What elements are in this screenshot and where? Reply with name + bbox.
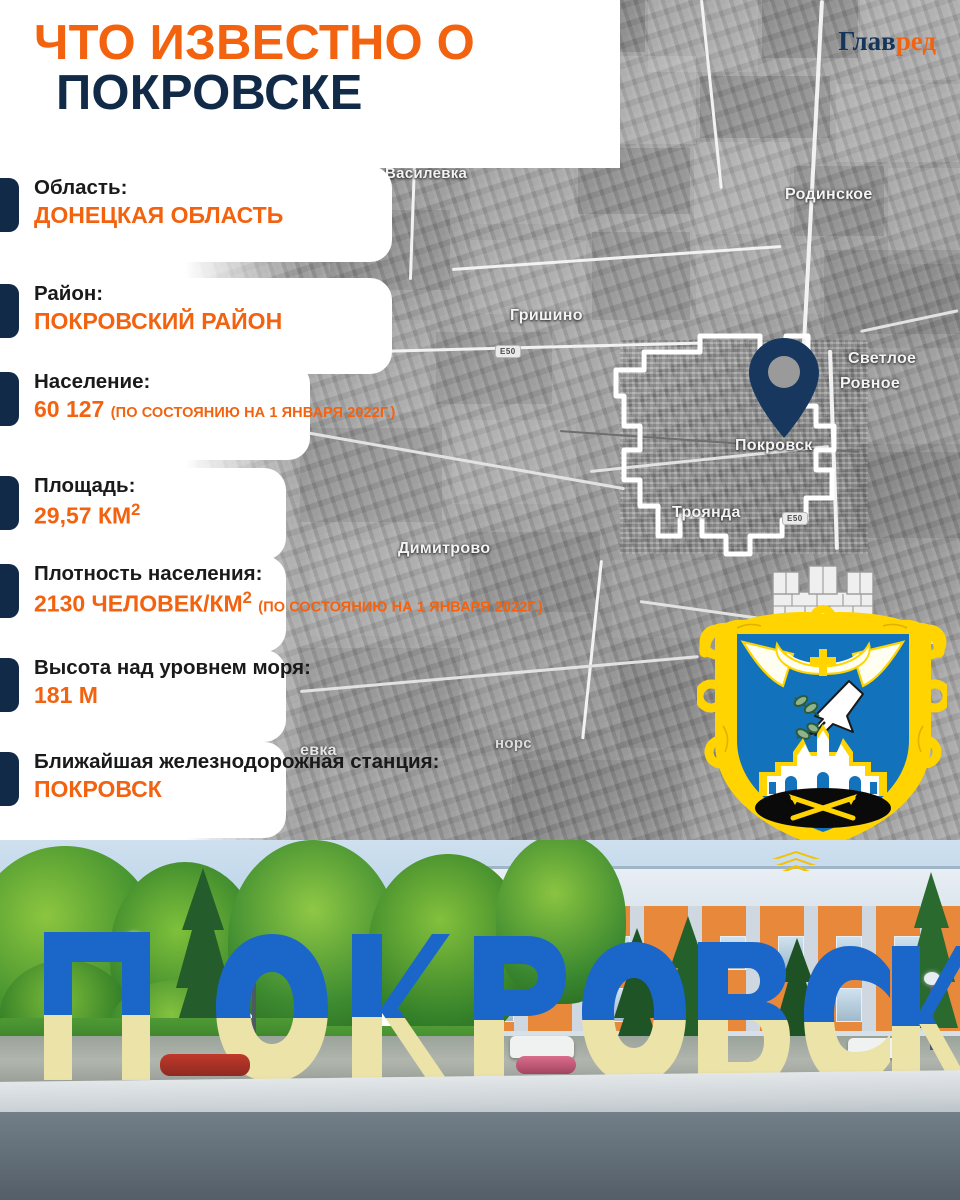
bullet-marker [0,658,19,712]
row-label: Плотность населения: [34,562,543,586]
row-label: Население: [34,370,395,394]
row-value: ПОКРОВСКИЙ РАЙОН [34,308,282,335]
map-label-rovnoe: Ровное [840,375,900,393]
row-value-superscript: 2 [131,500,140,519]
bullet-marker [0,476,19,530]
map-label-grishino: Гришино [510,307,583,325]
row-label: Район: [34,282,282,306]
black-mound-with-crossed-tools [755,788,891,828]
row-label: Ближайшая железнодорожная станция: [34,750,439,774]
bullet-marker [0,752,19,806]
row-note: (ПО СОСТОЯНИЮ НА 1 ЯНВАРЯ 2022Г.) [258,599,543,615]
row-value-superscript: 2 [243,588,252,607]
bullet-marker [0,284,19,338]
map-label-dimitrovo: Димитрово [398,540,490,558]
page-title: ЧТО ИЗВЕСТНО О ПОКРОВСКЕ [34,18,634,119]
brand-part-red: ред [896,26,936,56]
flower-bed [160,1054,250,1076]
bullet-marker [0,178,19,232]
row-value-number: 2130 ЧЕЛОВЕК/КМ [34,590,243,616]
brand-part-glav: Глав [838,26,895,56]
bullet-marker [0,564,19,618]
row-value: 60 127 (ПО СОСТОЯНИЮ НА 1 ЯНВАРЯ 2022Г.) [34,396,395,423]
row-value: ПОКРОВСК [34,776,439,803]
row-label: Высота над уровнем моря: [34,656,311,680]
infographic-poster: E50 E50 енко Василевка Родинское Гришино… [0,0,960,1200]
monument-letter-o2 [578,940,690,1086]
row-value: ДОНЕЦКАЯ ОБЛАСТЬ [34,202,283,229]
map-label-troyanda: Троянда [672,504,741,522]
row-value: 2130 ЧЕЛОВЕК/КМ2 (ПО СОСТОЯНИЮ НА 1 ЯНВА… [34,588,543,618]
map-label-svetloe: Светлое [848,350,916,368]
railway-emblem-icon [770,850,822,876]
road-badge-e50-south: E50 [782,512,808,525]
city-photo [0,840,960,1200]
row-label: Область: [34,176,283,200]
row-value: 29,57 КМ2 [34,500,140,530]
monument-letter-k1-arms [376,934,450,1084]
map-label-rodinskoe: Родинское [785,186,873,204]
row-value-number: 29,57 КМ [34,502,131,528]
monument-letter-s [800,944,896,1088]
monument-letter-k2-arms [914,946,960,1088]
row-value-number: 60 127 [34,396,104,422]
title-line-2: ПОКРОВСКЕ [34,68,634,118]
flower-bed [516,1056,576,1074]
brand-logo[interactable]: Главред [838,26,936,57]
map-label-nors: норс [495,735,532,752]
road-badge-e50-west: E50 [495,345,521,358]
foreground-apron [0,1112,960,1200]
coat-of-arms [697,556,947,861]
title-line-1: ЧТО ИЗВЕСТНО О [34,18,634,68]
map-pin-icon [745,336,823,440]
monument-letter-p1-bar [44,932,150,962]
row-value: 181 М [34,682,311,709]
monument-letter-v [694,942,794,1088]
row-note: (ПО СОСТОЯНИЮ НА 1 ЯНВАРЯ 2022Г.) [111,405,396,421]
row-label: Площадь: [34,474,140,498]
bullet-marker [0,372,19,426]
